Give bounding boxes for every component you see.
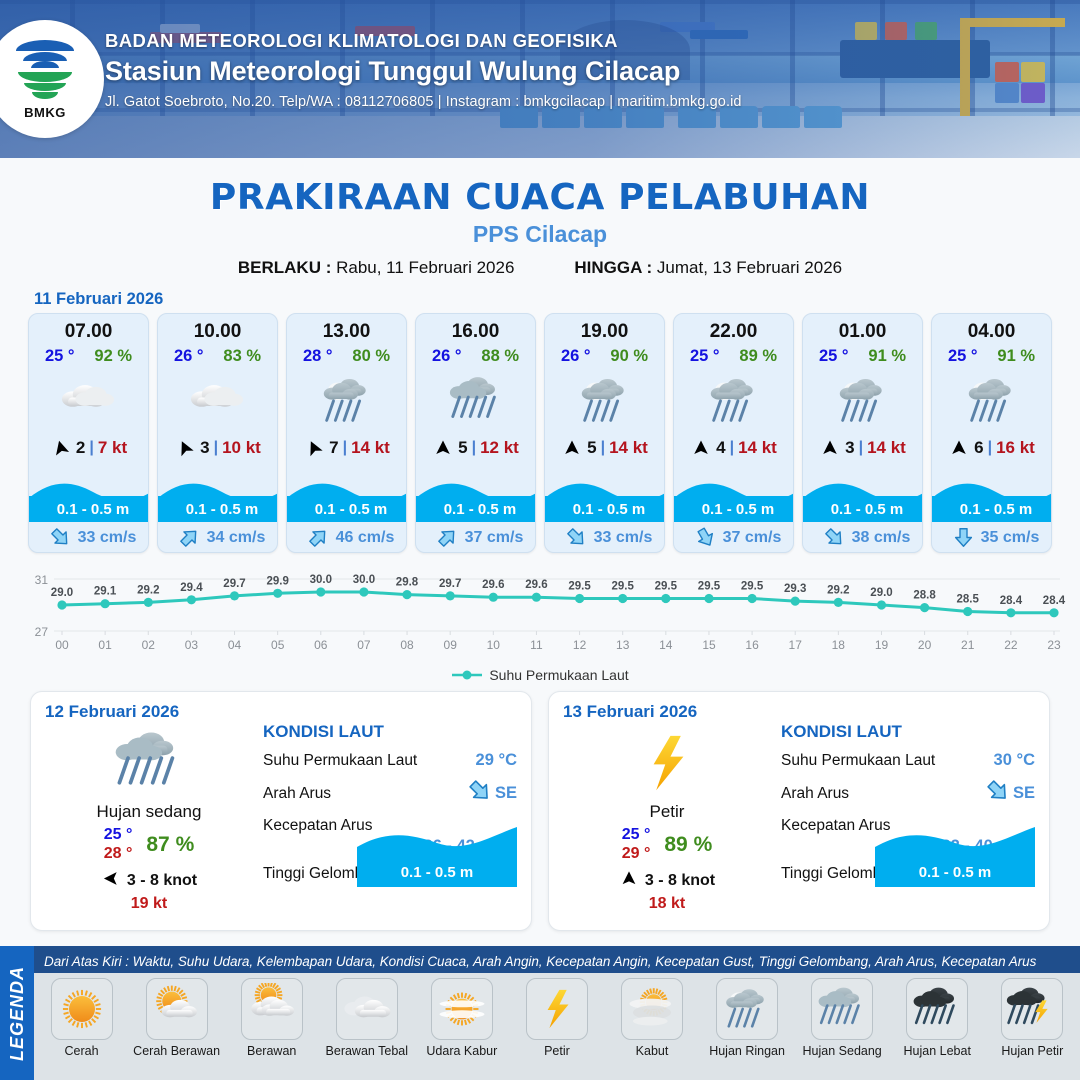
day-humidity: 89 %: [664, 833, 712, 857]
weather-condition-icon: [158, 370, 277, 432]
wave-height-bar: 0.1 - 0.5 m: [545, 496, 665, 522]
wind-row: 3 | 10 kt: [158, 438, 277, 458]
svg-text:28.4: 28.4: [1000, 595, 1023, 607]
wind-separator: |: [89, 439, 93, 457]
sst-chart-svg: 312729.00029.10129.20229.40329.70429.905…: [14, 565, 1066, 661]
wave-height-bar: 0.1 - 0.5 m: [287, 496, 407, 522]
contact-info: Jl. Gatot Soebroto, No.20. Telp/WA : 081…: [105, 94, 742, 110]
svg-text:05: 05: [271, 638, 285, 652]
air-temperature: 26 °: [174, 347, 204, 366]
legend-item: Hujan Lebat: [892, 978, 982, 1058]
day-current-direction-arrow-icon: [986, 779, 1010, 808]
day-condition: Petir: [567, 802, 767, 822]
svg-text:22: 22: [1004, 638, 1018, 652]
forecast-card[interactable]: 10.00 26 ° 83 % 3 | 10 kt 0.1 - 0.5 m 34…: [157, 313, 278, 553]
svg-text:12: 12: [573, 638, 587, 652]
svg-text:29.5: 29.5: [655, 581, 678, 593]
day-wave-graphic: 0.1 - 0.5 m: [357, 831, 517, 887]
station-name: Stasiun Meteorologi Tunggul Wulung Cilac…: [105, 56, 742, 87]
svg-text:29.9: 29.9: [267, 575, 289, 587]
forecast-time: 13.00: [287, 321, 406, 343]
wave-height: 0.1 - 0.5 m: [186, 501, 259, 518]
wave-height-bar: 0.1 - 0.5 m: [158, 496, 278, 522]
day-date: 13 Februari 2026: [563, 702, 1035, 722]
svg-text:17: 17: [789, 638, 803, 652]
svg-text:07: 07: [357, 638, 371, 652]
forecast-time: 10.00: [158, 321, 277, 343]
air-temperature: 25 °: [45, 347, 75, 366]
agency-name: BADAN METEOROLOGI KLIMATOLOGI DAN GEOFIS…: [105, 30, 742, 52]
weather-condition-icon: [932, 370, 1051, 432]
day-temp-max: 28 °: [104, 845, 133, 863]
current-speed: 34 cm/s: [207, 529, 266, 547]
legend-item-label: Berawan Tebal: [322, 1044, 412, 1058]
weather-condition-icon: [545, 370, 664, 432]
legend-item-icon: [1001, 978, 1063, 1040]
svg-text:02: 02: [142, 638, 156, 652]
wind-row: 5 | 14 kt: [545, 438, 664, 458]
svg-text:29.7: 29.7: [223, 578, 245, 590]
day-humidity: 87 %: [146, 833, 194, 857]
forecast-card[interactable]: 01.00 25 ° 91 % 3 | 14 kt 0.1 - 0.5 m 38…: [802, 313, 923, 553]
valid-from-value: Rabu, 11 Februari 2026: [336, 258, 514, 277]
wind-separator: |: [214, 439, 218, 457]
legend-item-label: Petir: [512, 1044, 602, 1058]
svg-text:29.0: 29.0: [870, 587, 892, 599]
wind-separator: |: [601, 439, 605, 457]
svg-text:04: 04: [228, 638, 242, 652]
weather-condition-icon: [416, 370, 535, 432]
svg-text:11: 11: [530, 638, 543, 652]
wind-speed: 7: [329, 438, 338, 458]
forecast-date-label: 11 Februari 2026: [34, 290, 1080, 309]
current-speed: 37 cm/s: [723, 529, 782, 547]
svg-text:29.4: 29.4: [180, 582, 203, 594]
wind-gust: 10 kt: [222, 438, 261, 458]
current-direction-label: Arah Arus: [781, 785, 849, 803]
day-wind-direction-arrow-icon: [619, 870, 639, 892]
validity-row: BERLAKU : Rabu, 11 Februari 2026 HINGGA …: [0, 258, 1080, 278]
day-temp-column: 25 ° 29 °: [622, 826, 651, 863]
wind-speed: 3: [845, 438, 854, 458]
sst-row: Suhu Permukaan Laut 30 °C: [781, 751, 1035, 770]
current-speed: 37 cm/s: [465, 529, 524, 547]
legend-item-label: Hujan Ringan: [702, 1044, 792, 1058]
wind-separator: |: [472, 439, 476, 457]
wave-zone: 0.1 - 0.5 m 34 cm/s: [158, 476, 278, 552]
forecast-temp-humidity-row: 25 ° 91 %: [932, 347, 1051, 366]
wind-speed: 6: [974, 438, 983, 458]
svg-text:15: 15: [702, 638, 716, 652]
day-temp-humidity-row: 25 ° 28 ° 87 %: [49, 826, 249, 863]
wave-zone: 0.1 - 0.5 m 35 cm/s: [932, 476, 1052, 552]
forecast-card[interactable]: 16.00 26 ° 88 % 5 | 12 kt 0.1 - 0.5 m 37…: [415, 313, 536, 553]
forecast-time: 22.00: [674, 321, 793, 343]
wave-zone: 0.1 - 0.5 m 33 cm/s: [545, 476, 665, 552]
svg-text:29.6: 29.6: [482, 579, 504, 591]
legend-item-label: Hujan Lebat: [892, 1044, 982, 1058]
daily-summary-panel[interactable]: 12 Februari 2026 Hujan sedang 25 ° 28 ° …: [30, 691, 532, 931]
wave-height-bar: 0.1 - 0.5 m: [932, 496, 1052, 522]
svg-text:29.5: 29.5: [741, 581, 764, 593]
svg-text:28.8: 28.8: [913, 590, 936, 602]
wave-height: 0.1 - 0.5 m: [315, 501, 388, 518]
air-temperature: 26 °: [432, 347, 462, 366]
current-direction-row: Arah Arus SE: [263, 779, 517, 808]
legend-item: Petir: [512, 978, 602, 1058]
legend-item: Cerah Berawan: [132, 978, 222, 1058]
sea-conditions-title: KONDISI LAUT: [263, 722, 517, 742]
svg-text:10: 10: [487, 638, 501, 652]
day-temp-max: 29 °: [622, 845, 651, 863]
current-direction-value: SE: [1013, 784, 1035, 803]
legend-item-label: Kabut: [607, 1044, 697, 1058]
air-temperature: 25 °: [948, 347, 978, 366]
current-direction-arrow-icon: [566, 527, 588, 549]
air-temperature: 25 °: [819, 347, 849, 366]
day-wind-range: 3 - 8 knot: [645, 872, 715, 890]
wave-height: 0.1 - 0.5 m: [57, 501, 130, 518]
legend-tab-label: LEGENDA: [7, 965, 28, 1060]
forecast-time: 16.00: [416, 321, 535, 343]
forecast-card[interactable]: 19.00 26 ° 90 % 5 | 14 kt 0.1 - 0.5 m 33…: [544, 313, 665, 553]
svg-text:08: 08: [400, 638, 414, 652]
svg-text:20: 20: [918, 638, 932, 652]
forecast-temp-humidity-row: 26 ° 83 %: [158, 347, 277, 366]
humidity: 91 %: [997, 347, 1035, 366]
legend-item-label: Cerah Berawan: [132, 1044, 222, 1058]
weather-condition-icon: [287, 370, 406, 432]
legend-item: Berawan: [227, 978, 317, 1058]
legend-item-icon: [336, 978, 398, 1040]
wind-direction-arrow-icon: [432, 439, 454, 457]
daily-summary-panel[interactable]: 13 Februari 2026 Petir 25 ° 29 ° 89 % 3 …: [548, 691, 1050, 931]
forecast-card-list: 07.00 25 ° 92 % 2 | 7 kt 0.1 - 0.5 m 33 …: [0, 313, 1080, 553]
svg-text:29.7: 29.7: [439, 578, 461, 590]
svg-text:14: 14: [659, 638, 673, 652]
wind-separator: |: [988, 439, 992, 457]
svg-text:29.2: 29.2: [137, 584, 159, 596]
wave-height: 0.1 - 0.5 m: [702, 501, 775, 518]
current-direction-label: Arah Arus: [263, 785, 331, 803]
wind-row: 4 | 14 kt: [674, 438, 793, 458]
svg-text:30.0: 30.0: [310, 574, 332, 586]
legend-item-icon: [526, 978, 588, 1040]
day-current-direction-arrow-icon: [468, 779, 492, 808]
day-temp-min: 25 °: [104, 826, 133, 844]
air-temperature: 26 °: [561, 347, 591, 366]
legend-item-label: Cerah: [37, 1044, 127, 1058]
legend-item-label: Hujan Petir: [987, 1044, 1077, 1058]
legend-note: Dari Atas Kiri : Waktu, Suhu Udara, Kele…: [34, 946, 1080, 973]
svg-text:09: 09: [444, 638, 458, 652]
wind-separator: |: [343, 439, 347, 457]
current-row: 34 cm/s: [158, 527, 278, 549]
day-sea-block: KONDISI LAUT Suhu Permukaan Laut 29 °C A…: [263, 722, 517, 883]
legend-item: Hujan Petir: [987, 978, 1077, 1058]
day-wave-height-value: 0.1 - 0.5 m: [875, 857, 1035, 887]
day-left-block: Petir 25 ° 29 ° 89 % 3 - 8 knot 18 kt: [567, 726, 767, 913]
wind-separator: |: [859, 439, 863, 457]
svg-text:29.5: 29.5: [568, 581, 591, 593]
svg-text:29.3: 29.3: [784, 583, 806, 595]
air-temperature: 28 °: [303, 347, 333, 366]
sea-conditions-title: KONDISI LAUT: [781, 722, 1035, 742]
forecast-temp-humidity-row: 28 ° 80 %: [287, 347, 406, 366]
header-text-block: BADAN METEOROLOGI KLIMATOLOGI DAN GEOFIS…: [105, 30, 742, 110]
current-row: 33 cm/s: [545, 527, 665, 549]
day-wind-range: 3 - 8 knot: [127, 872, 197, 890]
svg-text:28.5: 28.5: [957, 594, 980, 606]
daily-summary-panels: 12 Februari 2026 Hujan sedang 25 ° 28 ° …: [0, 683, 1080, 931]
wave-height-bar: 0.1 - 0.5 m: [416, 496, 536, 522]
current-direction-arrow-icon: [824, 527, 846, 549]
wind-row: 7 | 14 kt: [287, 438, 406, 458]
wave-zone: 0.1 - 0.5 m 46 cm/s: [287, 476, 407, 552]
day-wind-direction-arrow-icon: [101, 870, 121, 892]
current-direction-arrow-icon: [308, 527, 330, 549]
air-temperature: 25 °: [690, 347, 720, 366]
current-row: 46 cm/s: [287, 527, 407, 549]
svg-text:18: 18: [832, 638, 846, 652]
legend-item-icon: [241, 978, 303, 1040]
svg-text:27: 27: [35, 625, 49, 639]
wind-speed: 3: [200, 438, 209, 458]
wind-speed: 2: [76, 438, 85, 458]
svg-text:29.0: 29.0: [51, 587, 73, 599]
svg-text:31: 31: [35, 573, 49, 587]
svg-text:28.4: 28.4: [1043, 595, 1066, 607]
wave-height: 0.1 - 0.5 m: [960, 501, 1033, 518]
logo-arcs-icon: [14, 40, 76, 70]
svg-text:06: 06: [314, 638, 328, 652]
wind-row: 5 | 12 kt: [416, 438, 535, 458]
legend-item-icon: [716, 978, 778, 1040]
chart-legend-label: Suhu Permukaan Laut: [489, 667, 628, 683]
legend-item: Kabut: [607, 978, 697, 1058]
day-temp-column: 25 ° 28 °: [104, 826, 133, 863]
page-title-block: PRAKIRAAN CUACA PELABUHAN PPS Cilacap BE…: [0, 177, 1080, 278]
weather-condition-icon: [674, 370, 793, 432]
humidity: 91 %: [868, 347, 906, 366]
wind-speed: 5: [587, 438, 596, 458]
legend-item-label: Berawan: [227, 1044, 317, 1058]
legend-item: Cerah: [37, 978, 127, 1058]
day-gust: 19 kt: [49, 895, 249, 913]
valid-from-label: BERLAKU :: [238, 258, 332, 277]
day-sea-block: KONDISI LAUT Suhu Permukaan Laut 30 °C A…: [781, 722, 1035, 883]
current-speed: 33 cm/s: [594, 529, 653, 547]
day-wind-row: 3 - 8 knot: [49, 870, 249, 892]
legend-item: Hujan Ringan: [702, 978, 792, 1058]
forecast-temp-humidity-row: 25 ° 92 %: [29, 347, 148, 366]
humidity: 92 %: [94, 347, 132, 366]
humidity: 89 %: [739, 347, 777, 366]
chart-legend-marker-icon: [451, 669, 483, 681]
wind-direction-arrow-icon: [561, 439, 583, 457]
current-row: 37 cm/s: [674, 527, 794, 549]
current-direction-value-group: SE: [468, 779, 517, 808]
legend-item: Hujan Sedang: [797, 978, 887, 1058]
humidity: 90 %: [610, 347, 648, 366]
day-date: 12 Februari 2026: [45, 702, 517, 722]
legend-body: Dari Atas Kiri : Waktu, Suhu Udara, Kele…: [34, 946, 1080, 1080]
page-header: BMKG BADAN METEOROLOGI KLIMATOLOGI DAN G…: [0, 0, 1080, 158]
forecast-temp-humidity-row: 25 ° 89 %: [674, 347, 793, 366]
legend-icon-list: Cerah Cerah Berawan Berawan Berawan Teba…: [34, 973, 1080, 1080]
wave-zone: 0.1 - 0.5 m 37 cm/s: [416, 476, 536, 552]
wind-row: 2 | 7 kt: [29, 438, 148, 458]
current-row: 35 cm/s: [932, 527, 1052, 549]
day-condition: Hujan sedang: [49, 802, 249, 822]
wave-height: 0.1 - 0.5 m: [444, 501, 517, 518]
day-temp-humidity-row: 25 ° 29 ° 89 %: [567, 826, 767, 863]
wind-speed: 4: [716, 438, 725, 458]
forecast-card[interactable]: 04.00 25 ° 91 % 6 | 16 kt 0.1 - 0.5 m 35…: [931, 313, 1052, 553]
wind-gust: 7 kt: [98, 438, 127, 458]
wind-separator: |: [730, 439, 734, 457]
forecast-temp-humidity-row: 26 ° 90 %: [545, 347, 664, 366]
sst-value: 29 °C: [476, 751, 517, 770]
svg-text:29.5: 29.5: [612, 581, 635, 593]
svg-text:29.8: 29.8: [396, 577, 419, 589]
current-speed: 46 cm/s: [336, 529, 395, 547]
wind-row: 3 | 14 kt: [803, 438, 922, 458]
day-weather-icon: [567, 726, 767, 800]
legend-bar: LEGENDA Dari Atas Kiri : Waktu, Suhu Uda…: [0, 946, 1080, 1080]
day-weather-icon: [49, 726, 249, 800]
legend-item-icon: [811, 978, 873, 1040]
day-left-block: Hujan sedang 25 ° 28 ° 87 % 3 - 8 knot 1…: [49, 726, 249, 913]
chart-legend: Suhu Permukaan Laut: [0, 667, 1080, 683]
svg-text:29.2: 29.2: [827, 584, 849, 596]
wave-height-bar: 0.1 - 0.5 m: [674, 496, 794, 522]
wave-zone: 0.1 - 0.5 m 33 cm/s: [29, 476, 149, 552]
svg-text:19: 19: [875, 638, 889, 652]
sst-row: Suhu Permukaan Laut 29 °C: [263, 751, 517, 770]
svg-text:16: 16: [745, 638, 759, 652]
wind-gust: 16 kt: [996, 438, 1035, 458]
day-gust: 18 kt: [567, 895, 767, 913]
forecast-card[interactable]: 13.00 28 ° 80 % 7 | 14 kt 0.1 - 0.5 m 46…: [286, 313, 407, 553]
humidity: 88 %: [481, 347, 519, 366]
legend-item-icon: [906, 978, 968, 1040]
forecast-time: 01.00: [803, 321, 922, 343]
day-wave-graphic: 0.1 - 0.5 m: [875, 831, 1035, 887]
current-row: 38 cm/s: [803, 527, 923, 549]
wind-direction-arrow-icon: [50, 439, 72, 457]
humidity: 80 %: [352, 347, 390, 366]
weather-condition-icon: [803, 370, 922, 432]
page-title: PRAKIRAAN CUACA PELABUHAN: [0, 177, 1080, 218]
legend-item-label: Udara Kabur: [417, 1044, 507, 1058]
legend-item-icon: [431, 978, 493, 1040]
wind-speed: 5: [458, 438, 467, 458]
legend-item-icon: [146, 978, 208, 1040]
wave-zone: 0.1 - 0.5 m 38 cm/s: [803, 476, 923, 552]
current-direction-arrow-icon: [437, 527, 459, 549]
wind-row: 6 | 16 kt: [932, 438, 1051, 458]
svg-text:29.6: 29.6: [525, 579, 547, 591]
logo-waves-icon: [16, 72, 74, 102]
legend-item-label: Hujan Sedang: [797, 1044, 887, 1058]
svg-text:30.0: 30.0: [353, 574, 375, 586]
svg-text:03: 03: [185, 638, 199, 652]
valid-until: HINGGA : Jumat, 13 Februari 2026: [574, 258, 842, 278]
wave-height: 0.1 - 0.5 m: [573, 501, 646, 518]
sst-label: Suhu Permukaan Laut: [781, 752, 935, 770]
current-direction-arrow-icon: [50, 527, 72, 549]
svg-text:29.1: 29.1: [94, 586, 117, 598]
wind-direction-arrow-icon: [303, 439, 325, 457]
valid-until-label: HINGGA :: [574, 258, 652, 277]
day-wind-row: 3 - 8 knot: [567, 870, 767, 892]
current-speed: 38 cm/s: [852, 529, 911, 547]
wind-gust: 14 kt: [351, 438, 390, 458]
forecast-time: 04.00: [932, 321, 1051, 343]
valid-from: BERLAKU : Rabu, 11 Februari 2026: [238, 258, 515, 278]
forecast-time: 07.00: [29, 321, 148, 343]
current-speed: 33 cm/s: [78, 529, 137, 547]
day-wave-height-value: 0.1 - 0.5 m: [357, 857, 517, 887]
sst-chart: 312729.00029.10129.20229.40329.70429.905…: [14, 565, 1066, 663]
current-direction-arrow-icon: [953, 527, 975, 549]
valid-until-value: Jumat, 13 Februari 2026: [657, 258, 842, 277]
wave-height-bar: 0.1 - 0.5 m: [29, 496, 149, 522]
current-direction-arrow-icon: [179, 527, 201, 549]
forecast-card[interactable]: 22.00 25 ° 89 % 4 | 14 kt 0.1 - 0.5 m 37…: [673, 313, 794, 553]
day-wave-shape-icon: [875, 825, 1035, 859]
logo-text: BMKG: [24, 105, 66, 120]
wave-height-bar: 0.1 - 0.5 m: [803, 496, 923, 522]
svg-text:23: 23: [1047, 638, 1061, 652]
forecast-temp-humidity-row: 25 ° 91 %: [803, 347, 922, 366]
wind-gust: 14 kt: [867, 438, 906, 458]
legend-tab: LEGENDA: [0, 946, 34, 1080]
svg-text:29.5: 29.5: [698, 581, 721, 593]
current-row: 37 cm/s: [416, 527, 536, 549]
svg-text:21: 21: [961, 638, 975, 652]
forecast-time: 19.00: [545, 321, 664, 343]
sst-label: Suhu Permukaan Laut: [263, 752, 417, 770]
forecast-temp-humidity-row: 26 ° 88 %: [416, 347, 535, 366]
current-row: 33 cm/s: [29, 527, 149, 549]
legend-item-icon: [621, 978, 683, 1040]
current-direction-value-group: SE: [986, 779, 1035, 808]
wind-direction-arrow-icon: [174, 439, 196, 457]
forecast-card[interactable]: 07.00 25 ° 92 % 2 | 7 kt 0.1 - 0.5 m 33 …: [28, 313, 149, 553]
current-direction-arrow-icon: [695, 527, 717, 549]
wind-gust: 14 kt: [609, 438, 648, 458]
day-wave-shape-icon: [357, 825, 517, 859]
page-subtitle: PPS Cilacap: [0, 221, 1080, 248]
wind-gust: 14 kt: [738, 438, 777, 458]
legend-item: Berawan Tebal: [322, 978, 412, 1058]
current-direction-row: Arah Arus SE: [781, 779, 1035, 808]
svg-text:01: 01: [98, 638, 112, 652]
current-speed: 35 cm/s: [981, 529, 1040, 547]
day-temp-min: 25 °: [622, 826, 651, 844]
wind-gust: 12 kt: [480, 438, 519, 458]
legend-item-icon: [51, 978, 113, 1040]
wind-direction-arrow-icon: [819, 439, 841, 457]
current-direction-value: SE: [495, 784, 517, 803]
wind-direction-arrow-icon: [690, 439, 712, 457]
svg-text:00: 00: [55, 638, 69, 652]
sst-value: 30 °C: [994, 751, 1035, 770]
legend-item: Udara Kabur: [417, 978, 507, 1058]
weather-condition-icon: [29, 370, 148, 432]
